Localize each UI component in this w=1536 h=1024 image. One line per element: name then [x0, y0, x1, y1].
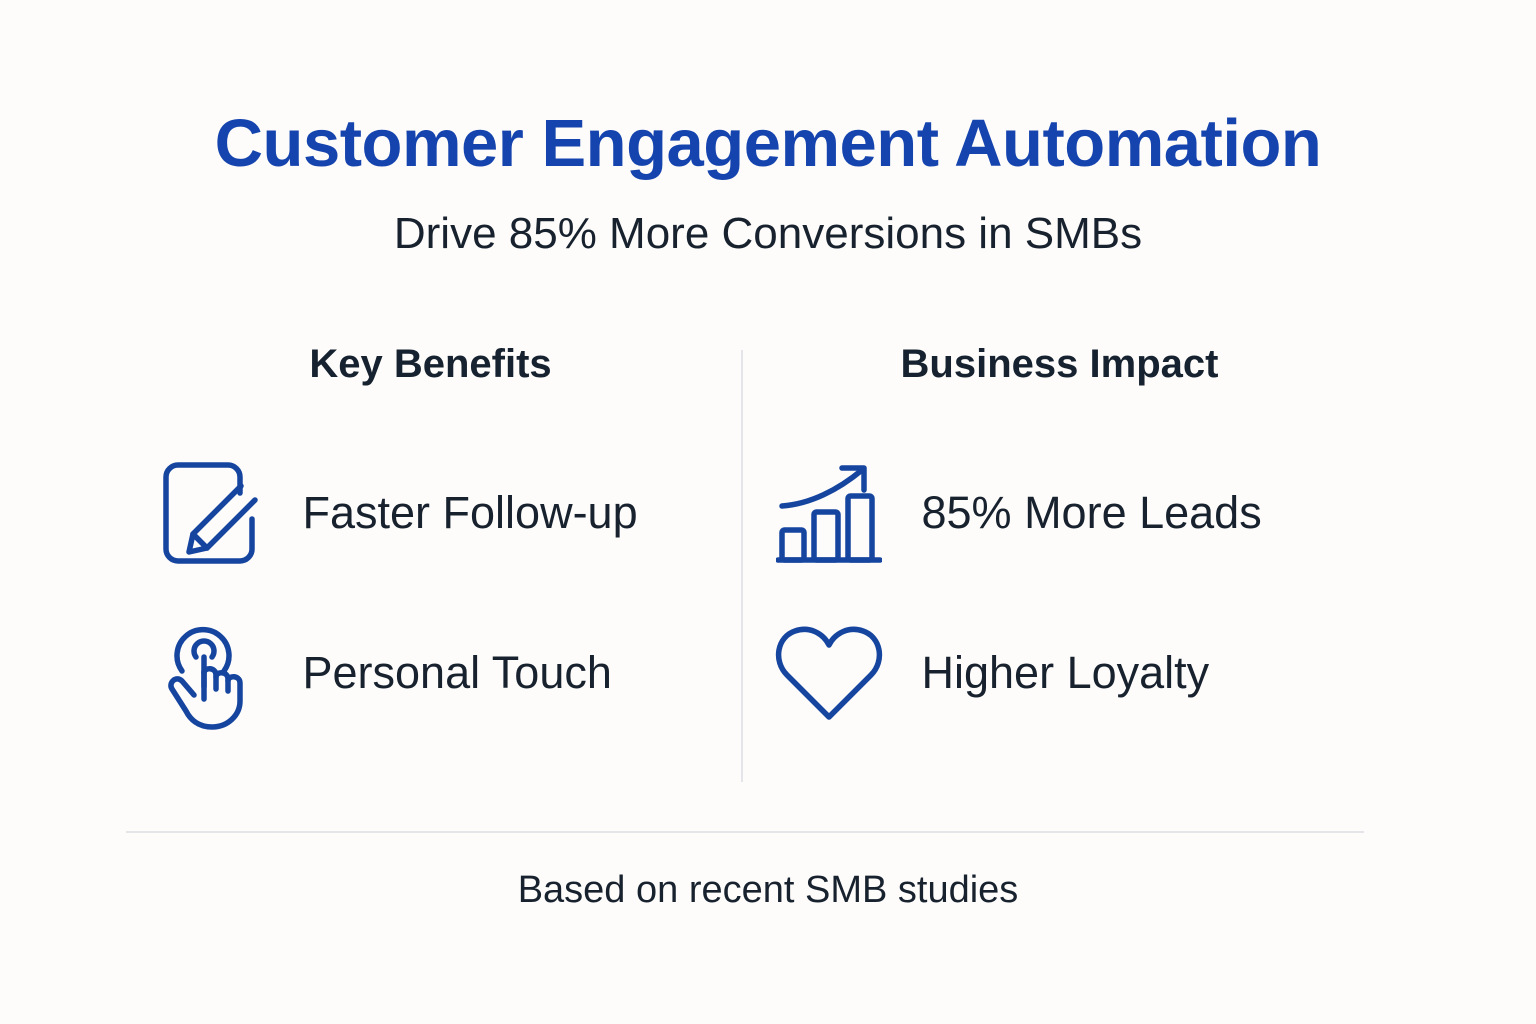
footer-note: Based on recent SMB studies — [0, 866, 1536, 914]
list-item-personal-touch: Personal Touch — [151, 614, 711, 732]
list-item-faster-follow-up: Faster Follow-up — [151, 454, 711, 572]
column-heading-key-benefits: Key Benefits — [309, 340, 551, 388]
list-item-more-leads: 85% More Leads — [770, 454, 1350, 572]
footer-separator — [126, 831, 1364, 833]
note-edit-icon — [151, 454, 269, 572]
page-subtitle: Drive 85% More Conversions in SMBs — [0, 206, 1536, 262]
columns-container: Key Benefits Faster Follow-up — [126, 340, 1364, 790]
list-item-label: Higher Loyalty — [922, 646, 1210, 700]
growth-bar-chart-icon — [770, 454, 888, 572]
column-separator — [741, 350, 743, 782]
heart-icon — [770, 614, 888, 732]
column-key-benefits: Key Benefits Faster Follow-up — [126, 340, 745, 732]
list-item-label: Personal Touch — [303, 646, 612, 700]
impact-list: 85% More Leads Higher Loyalty — [755, 454, 1364, 732]
list-item-higher-loyalty: Higher Loyalty — [770, 614, 1350, 732]
column-business-impact: Business Impact — [745, 340, 1364, 732]
hand-tap-icon — [151, 614, 269, 732]
page-title: Customer Engagement Automation — [0, 104, 1536, 184]
infographic-poster: Customer Engagement Automation Drive 85%… — [0, 0, 1536, 1024]
list-item-label: 85% More Leads — [922, 486, 1262, 540]
header: Customer Engagement Automation Drive 85%… — [0, 104, 1536, 262]
column-heading-business-impact: Business Impact — [901, 340, 1219, 388]
benefit-list: Faster Follow-up — [126, 454, 735, 732]
footer: Based on recent SMB studies — [0, 866, 1536, 914]
list-item-label: Faster Follow-up — [303, 486, 638, 540]
